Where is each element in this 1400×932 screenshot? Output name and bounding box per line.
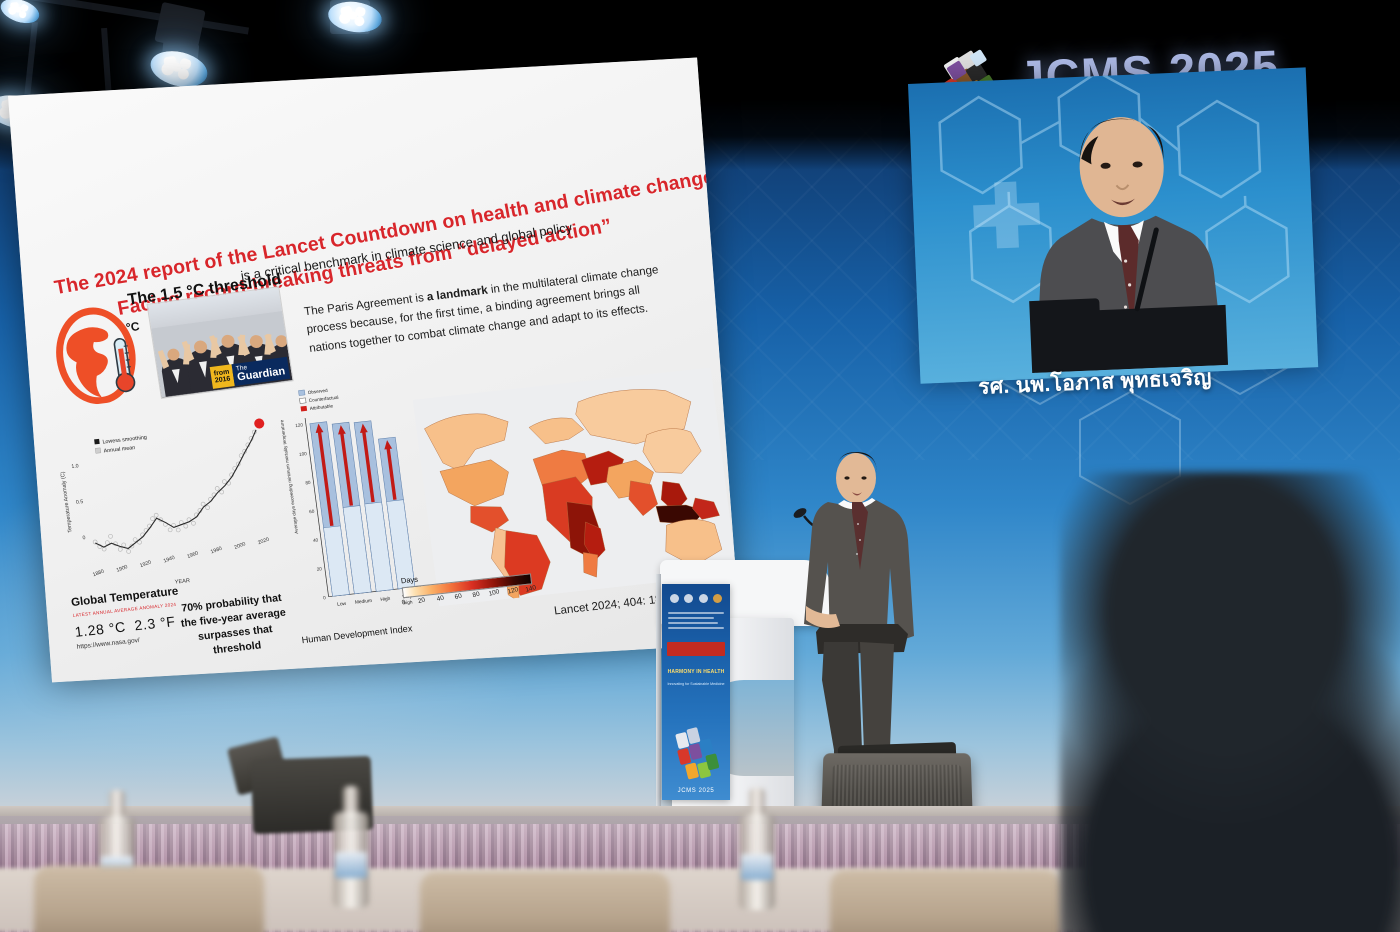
celsius-unit-label: °C	[125, 319, 141, 335]
speaker-on-video	[1021, 97, 1228, 373]
days-tick: 80	[472, 591, 481, 600]
legend-label-counterfactual: Counterfactual	[308, 395, 338, 403]
hdi-ytick: 80	[305, 480, 311, 486]
temp-ytick: 0.5	[76, 499, 84, 506]
podium-banner: HARMONY IN HEALTH Innovating for Sustain…	[662, 584, 730, 800]
temp-xtick: 1920	[139, 559, 152, 569]
temp-xtick: 1980	[210, 546, 223, 556]
temp-chart-ylabel: Temperature Anomaly (C)	[60, 471, 74, 533]
anomaly-celsius: 1.28 °C	[74, 618, 127, 639]
legend-swatch-attributable	[301, 406, 308, 412]
legend-label-lowess: Lowess smoothing	[102, 435, 147, 446]
projected-slide: The 2024 report of the Lancet Countdown …	[8, 57, 742, 694]
hdi-ytick: 40	[313, 537, 319, 543]
speaker-head	[836, 453, 876, 503]
probability-note: 70% probability that the five-year avera…	[173, 590, 296, 662]
photo-badge-year: 2016	[214, 376, 230, 385]
latest-anomaly-point	[254, 418, 265, 429]
hdi-xtick-high: High	[380, 596, 391, 603]
banner-org-logos	[667, 592, 725, 605]
speaker-video-feed	[908, 67, 1318, 383]
hdi-ytick: 100	[299, 451, 308, 457]
temp-xtick: 2000	[234, 541, 247, 551]
temp-xtick: 2020	[257, 537, 270, 547]
audience-head-silhouette	[1060, 472, 1400, 932]
hdi-ytick: 0	[323, 595, 327, 600]
temp-xtick: 1940	[163, 555, 176, 565]
legend-label-attributable: Attributable	[310, 403, 334, 411]
hdi-ytick: 120	[295, 422, 304, 428]
days-tick: 60	[454, 593, 463, 602]
hdi-ytick: 20	[316, 566, 322, 572]
days-tick: 100	[488, 588, 500, 597]
days-tick: 120	[507, 586, 519, 595]
days-tick: 0	[401, 599, 406, 607]
days-tick: 20	[418, 597, 427, 606]
hdi-xtick-medium: Medium	[355, 598, 373, 606]
banner-red-strip	[667, 642, 725, 656]
globe-thermometer-icon: °C	[49, 298, 155, 409]
banner-subtitle: Innovating for Sustainable Medicine	[666, 682, 726, 686]
temp-xtick: 1900	[116, 564, 129, 574]
paris-agreement-delegates-photo: from2016 TheGuardian	[146, 286, 293, 399]
legend-label-observed: Observed	[307, 388, 328, 395]
anomaly-fahrenheit: 2.3 °F	[134, 613, 177, 633]
temp-xtick: 1960	[186, 550, 199, 560]
legend-swatch-lowess	[94, 439, 100, 445]
banner-jcms-logo	[673, 724, 719, 782]
chair-back	[34, 866, 264, 932]
legend-label-annual: Annual mean	[103, 445, 135, 454]
hdi-xtick-low: Low	[337, 601, 347, 608]
temp-ytick: 1.0	[71, 463, 79, 470]
global-temperature-chart: Temperature Anomaly (C) 1.0 0.5 0 1880 1…	[51, 406, 296, 609]
chair-back	[830, 870, 1060, 932]
legend-swatch-counterfactual	[299, 398, 306, 404]
temp-ytick: 0	[82, 535, 86, 541]
temp-xtick: 1880	[92, 569, 105, 579]
legend-swatch-annual	[95, 448, 101, 454]
banner-pole	[656, 574, 661, 814]
hdi-ytick: 60	[309, 509, 315, 515]
legend-swatch-observed	[298, 390, 305, 396]
banner-event-name: JCMS 2025	[662, 788, 730, 794]
days-tick: 140	[525, 584, 537, 593]
days-tick: 40	[436, 595, 445, 604]
conference-stage-photo: JCMS 2025	[0, 0, 1400, 932]
chair-back	[420, 872, 670, 932]
banner-title: HARMONY IN HEALTH	[666, 670, 726, 676]
